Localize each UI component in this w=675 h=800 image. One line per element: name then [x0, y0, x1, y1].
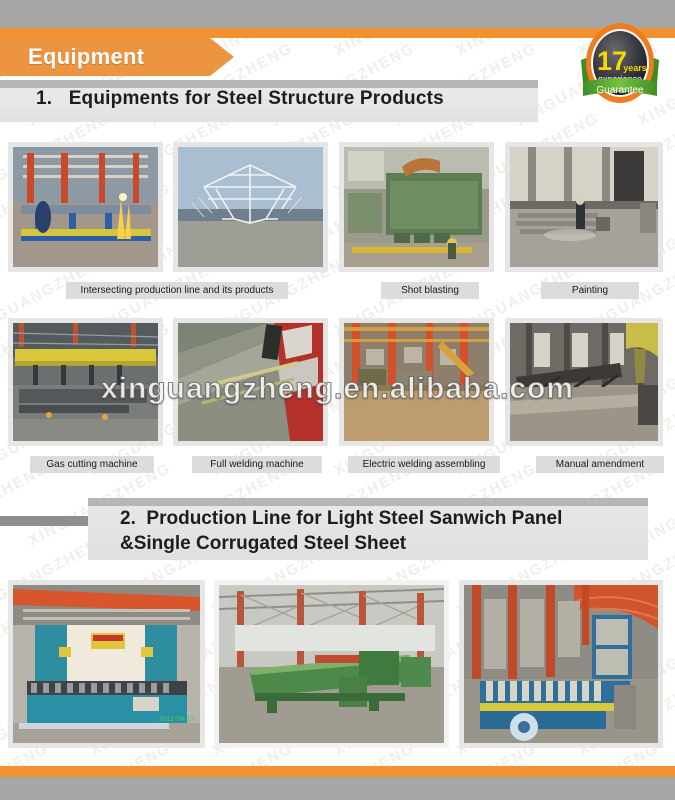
photo-manual-amendment[interactable]	[505, 318, 663, 446]
photo-full-welding-machine[interactable]	[173, 318, 328, 446]
caption-electric-welding-assembling: Electric welding assembling	[348, 456, 500, 473]
photo-steel-canopy-structure[interactable]	[173, 142, 328, 272]
section-2-left-bar	[0, 516, 96, 526]
photo-date-stamp: 2011-04-13	[159, 716, 194, 723]
section-1-title: Equipments for Steel Structure Products	[69, 88, 444, 109]
badge-unit: years	[623, 63, 647, 73]
section-1-number: 1.	[36, 88, 52, 109]
equipment-banner: Equipment	[0, 38, 210, 76]
caption-manual-amendment: Manual amendment	[536, 456, 664, 473]
equipment-banner-label: Equipment	[28, 44, 144, 70]
alibaba-watermark-text: xinguangzheng.en.alibaba.com	[101, 372, 574, 405]
photo-painting-workshop[interactable]	[505, 142, 663, 272]
section-1-heading: 1. Equipments for Steel Structure Produc…	[36, 88, 444, 110]
photo-sandwich-panel-line[interactable]	[214, 580, 449, 748]
top-gray-bar	[0, 0, 675, 28]
photo-intersecting-production-line[interactable]	[8, 142, 163, 272]
photo-electric-welding-assembling[interactable]	[339, 318, 494, 446]
photo-shot-blasting-machine[interactable]	[339, 142, 494, 272]
equipment-banner-arrow	[210, 38, 234, 76]
caption-painting: Painting	[541, 282, 639, 299]
caption-full-welding-machine: Full welding machine	[192, 456, 322, 473]
badge-ribbon-label: Guarantee	[596, 85, 644, 96]
section-2-title-line-2: &Single Corrugated Steel Sheet	[120, 531, 650, 556]
bottom-orange-bar	[0, 766, 675, 777]
section-2-title-line-1: Production Line for Light Steel Sanwich …	[146, 508, 562, 529]
watermark-tile: XINGUANGZHENG	[0, 460, 52, 550]
caption-intersecting-production-line: Intersecting production line and its pro…	[66, 282, 288, 299]
photo-press-brake-machine[interactable]: 2011-04-13	[8, 580, 205, 748]
caption-shot-blasting: Shot blasting	[381, 282, 479, 299]
years-experience-badge: 17 years experience Guarantee	[575, 16, 665, 112]
photo-gas-cutting-machine[interactable]	[8, 318, 163, 446]
photo-corrugated-sheet-roll-forming-line[interactable]	[459, 580, 663, 748]
section-2-number: 2.	[120, 508, 136, 529]
top-orange-bar	[0, 28, 675, 38]
bottom-gray-bar	[0, 777, 675, 800]
section-2-heading: 2. Production Line for Light Steel Sanwi…	[120, 506, 650, 556]
caption-gas-cutting-machine: Gas cutting machine	[30, 456, 154, 473]
